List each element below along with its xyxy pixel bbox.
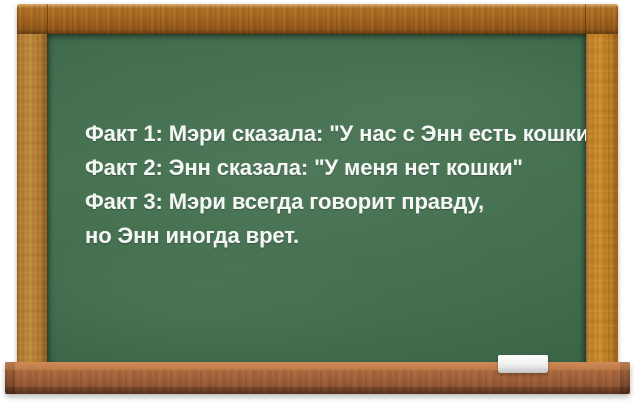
board-eraser[interactable] bbox=[498, 355, 548, 373]
chalk-line-fact-3: Факт 3: Мэри всегда говорит правду, bbox=[85, 185, 555, 219]
chalkboard-text-block: Факт 1: Мэри сказала: "У нас с Энн есть … bbox=[85, 117, 555, 253]
frame-rail-top bbox=[17, 4, 618, 34]
chalk-ledge-lip bbox=[5, 387, 630, 394]
frame-mitre-right bbox=[585, 4, 586, 34]
frame-rail-right bbox=[586, 4, 618, 372]
chalkboard-surface: Факт 1: Мэри сказала: "У нас с Энн есть … bbox=[47, 34, 586, 372]
chalk-line-fact-3-continued: но Энн иногда врет. bbox=[85, 219, 555, 253]
chalkboard-wooden-frame: Факт 1: Мэри сказала: "У нас с Энн есть … bbox=[17, 4, 618, 372]
frame-mitre-left bbox=[47, 4, 48, 34]
chalk-line-fact-1: Факт 1: Мэри сказала: "У нас с Энн есть … bbox=[85, 117, 555, 151]
board-eraser-felt bbox=[498, 368, 548, 373]
chalk-line-fact-2: Факт 2: Энн сказала: "У меня нет кошки" bbox=[85, 151, 555, 185]
frame-rail-left bbox=[17, 4, 47, 372]
chalkboard-scene: Факт 1: Мэри сказала: "У нас с Энн есть … bbox=[0, 0, 635, 408]
